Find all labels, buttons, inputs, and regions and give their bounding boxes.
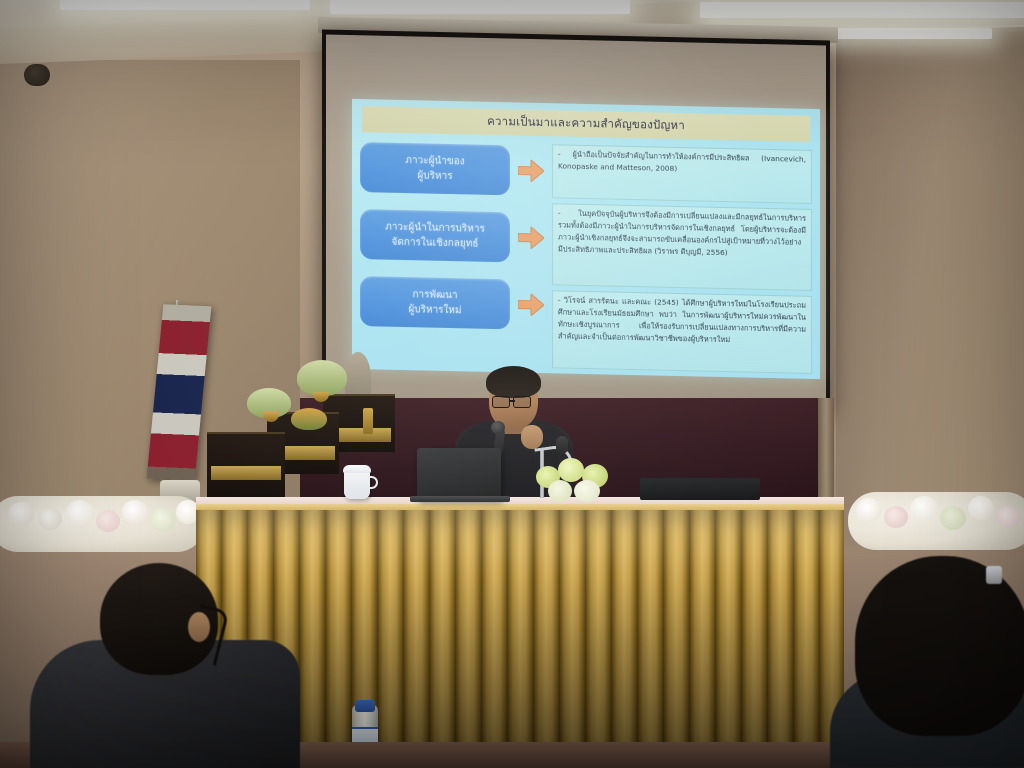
presenter-hair: [486, 366, 541, 398]
flower-bloom: [856, 498, 882, 522]
laptop: [417, 448, 501, 500]
slide-key-box-2-line2: จัดการในเชิงกลยุทธ์: [392, 235, 479, 252]
light-strip-3: [700, 2, 1024, 18]
slide-key-box-1-line2: ผู้บริหาร: [417, 168, 452, 184]
slide-key-box-3: การพัฒนา ผู้บริหารใหม่: [360, 276, 510, 329]
ceiling-speaker: [24, 64, 50, 86]
slide-key-box-2: ภาวะผู้นำในการบริหาร จัดการในเชิงกลยุทธ์: [360, 209, 510, 262]
presentation-slide: ความเป็นมาและความสำคัญของปัญหา ภาวะผู้นำ…: [352, 99, 820, 379]
slide-key-box-1-line1: ภาวะผู้นำของ: [405, 153, 464, 170]
presenter-glasses-bridge: [509, 400, 515, 402]
slide-title: ความเป็นมาและความสำคัญของปัญหา: [362, 106, 810, 142]
flower-bloom: [122, 500, 148, 524]
flower-bloom: [150, 508, 176, 532]
conference-room-photo: ความเป็นมาและความสำคัญของปัญหา ภาวะผู้นำ…: [0, 0, 1024, 768]
shrine-gold-trim-1: [211, 466, 281, 480]
flower-bloom: [38, 508, 62, 530]
light-strip-2: [330, 0, 630, 14]
flower-bloom: [910, 496, 938, 522]
audience-member-right-hair-clip: [986, 566, 1002, 584]
flower-vase: [534, 458, 616, 504]
water-bottle-cap: [355, 700, 375, 712]
flower-bloom: [884, 506, 908, 528]
slide-text-panel-3: - วิโรจน์ สารรัตนะ และคณะ (2545) ได้ศึกษ…: [552, 290, 812, 374]
nameplate: [640, 478, 760, 500]
flower-bloom: [96, 510, 120, 532]
laptop-base: [410, 496, 510, 502]
slide-text-panels: - ผู้นำถือเป็นปัจจัยสำคัญในการทำให้องค์ก…: [552, 142, 812, 376]
slide-key-box-1: ภาวะผู้นำของ ผู้บริหาร: [360, 142, 510, 195]
slide-body: ภาวะผู้นำของ ผู้บริหาร ภาวะผู้นำในการบริ…: [360, 138, 812, 376]
vase-bloom: [574, 480, 600, 502]
slide-text-panel-1: - ผู้นำถือเป็นปัจจัยสำคัญในการทำให้องค์ก…: [552, 144, 812, 204]
slide-arrows: [516, 141, 546, 370]
flower-bloom: [8, 502, 34, 526]
right-arrow-icon-1: [516, 145, 546, 196]
vase-bloom: [558, 458, 584, 482]
presenter-glasses-left-lens: [492, 396, 510, 408]
presenter-glasses-right-lens: [513, 396, 531, 408]
right-arrow-icon-3: [516, 279, 546, 330]
flower-bloom: [66, 500, 94, 526]
handheld-microphone-head: [491, 421, 505, 434]
fruit-offering-tray: [291, 408, 327, 430]
flower-bloom: [996, 506, 1020, 528]
presenter-hand: [521, 425, 543, 449]
slide-key-box-3-line2: ผู้บริหารใหม่: [408, 302, 461, 319]
right-arrow-icon-2: [516, 212, 546, 263]
tea-cup: [344, 469, 370, 499]
tea-cup-lid: [343, 465, 371, 473]
light-strip-1: [60, 0, 310, 10]
flower-bloom: [968, 496, 994, 520]
right-wall-panel: [836, 26, 1024, 546]
slide-text-panel-2: - ในยุคปัจจุบันผู้บริหารจึงต้องมีการเปลี…: [552, 203, 812, 291]
slide-key-box-3-line1: การพัฒนา: [412, 287, 457, 303]
flower-bloom: [940, 506, 966, 530]
slide-key-boxes: ภาวะผู้นำของ ผู้บริหาร ภาวะผู้นำในการบริ…: [360, 138, 510, 369]
gold-candle-stand: [363, 408, 373, 434]
desk-microphone-head: [556, 436, 568, 454]
banana-leaf-offering-1: [297, 360, 347, 396]
vase-bloom: [548, 480, 572, 502]
